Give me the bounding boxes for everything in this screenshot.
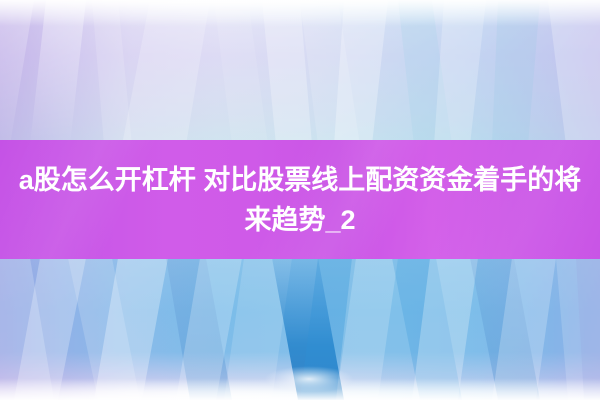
promo-banner: a股怎么开杠杆 对比股票线上配资资金着手的将来趋势_2 [0, 0, 600, 400]
banner-title-line-2: 趋势_2 [271, 205, 355, 235]
title-band: a股怎么开杠杆 对比股票线上配资资金着手的将来趋势_2 [0, 140, 600, 259]
banner-title: a股怎么开杠杆 对比股票线上配资资金着手的将来趋势_2 [7, 160, 593, 240]
